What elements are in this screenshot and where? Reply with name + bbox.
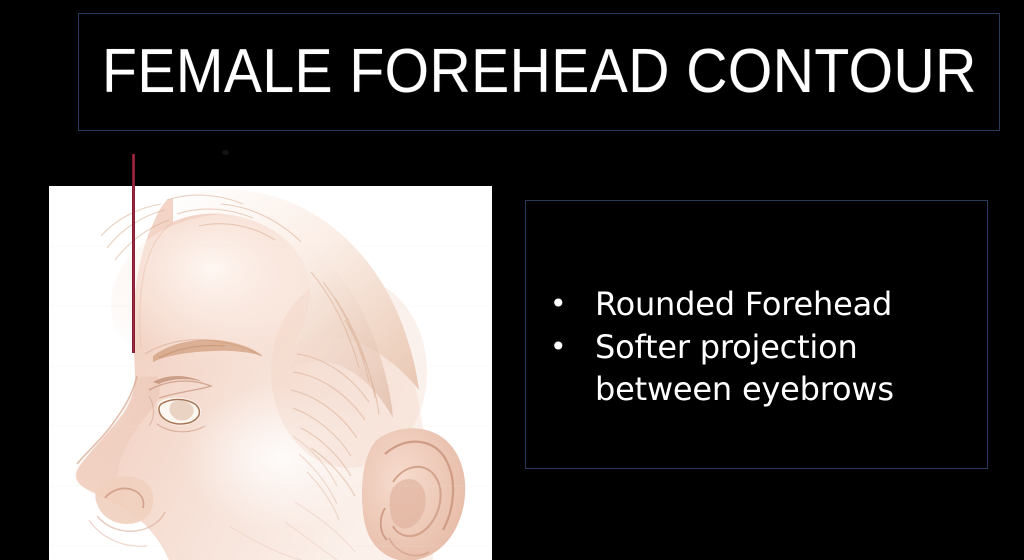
list-item: • Softer projection between eyebrows (544, 326, 979, 411)
list-item: • Rounded Forehead (544, 283, 979, 326)
profile-illustration (49, 186, 492, 560)
title-box: FEMALE FOREHEAD CONTOUR (78, 13, 1000, 131)
bullet-marker-icon: • (544, 283, 595, 326)
forehead-reference-line (132, 154, 135, 353)
page-title: FEMALE FOREHEAD CONTOUR (102, 41, 977, 103)
bullets-box: • Rounded Forehead • Softer projection b… (525, 200, 988, 469)
bullet-marker-icon: • (544, 326, 595, 369)
bullet-item-label: Rounded Forehead (595, 283, 979, 326)
scan-artifact-speck (222, 150, 229, 155)
bullet-list: • Rounded Forehead • Softer projection b… (544, 283, 979, 411)
slide-canvas: FEMALE FOREHEAD CONTOUR (0, 0, 1024, 560)
bullet-item-label: Softer projection between eyebrows (595, 326, 979, 411)
